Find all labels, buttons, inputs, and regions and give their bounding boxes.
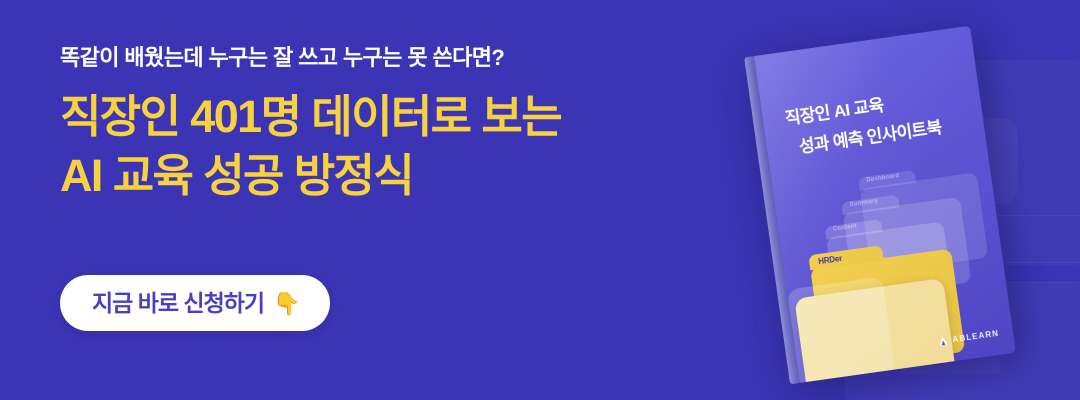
book-3d: 직장인 AI 교육 성과 예측 인사이트북 Dashboard Summary … xyxy=(744,26,1016,385)
card-highlight-wash xyxy=(787,276,898,382)
apply-now-label: 지금 바로 신청하기 xyxy=(92,292,264,315)
headline-line-1: 직장인 401명 데이터로 보는 xyxy=(60,87,720,146)
apply-now-button[interactable]: 지금 바로 신청하기 👇 xyxy=(60,275,330,331)
book-cover: 직장인 AI 교육 성과 예측 인사이트북 Dashboard Summary … xyxy=(754,26,1016,383)
eyebrow-text: 똑같이 배웠는데 누구는 잘 쓰고 누구는 못 쓴다면? xyxy=(60,44,720,73)
pointing-down-icon: 👇 xyxy=(273,293,300,315)
promo-banner: 똑같이 배웠는데 누구는 잘 쓰고 누구는 못 쓴다면? 직장인 401명 데이… xyxy=(0,0,1080,400)
triangle-logo-icon xyxy=(937,335,949,347)
copy-block: 똑같이 배웠는데 누구는 잘 쓰고 누구는 못 쓴다면? 직장인 401명 데이… xyxy=(60,44,720,205)
page-title: 직장인 401명 데이터로 보는 AI 교육 성공 방정식 xyxy=(60,87,720,206)
ebook-mockup: 직장인 AI 교육 성과 예측 인사이트북 Dashboard Summary … xyxy=(742,8,1032,394)
headline-line-2: AI 교육 성공 방정식 xyxy=(60,146,720,205)
